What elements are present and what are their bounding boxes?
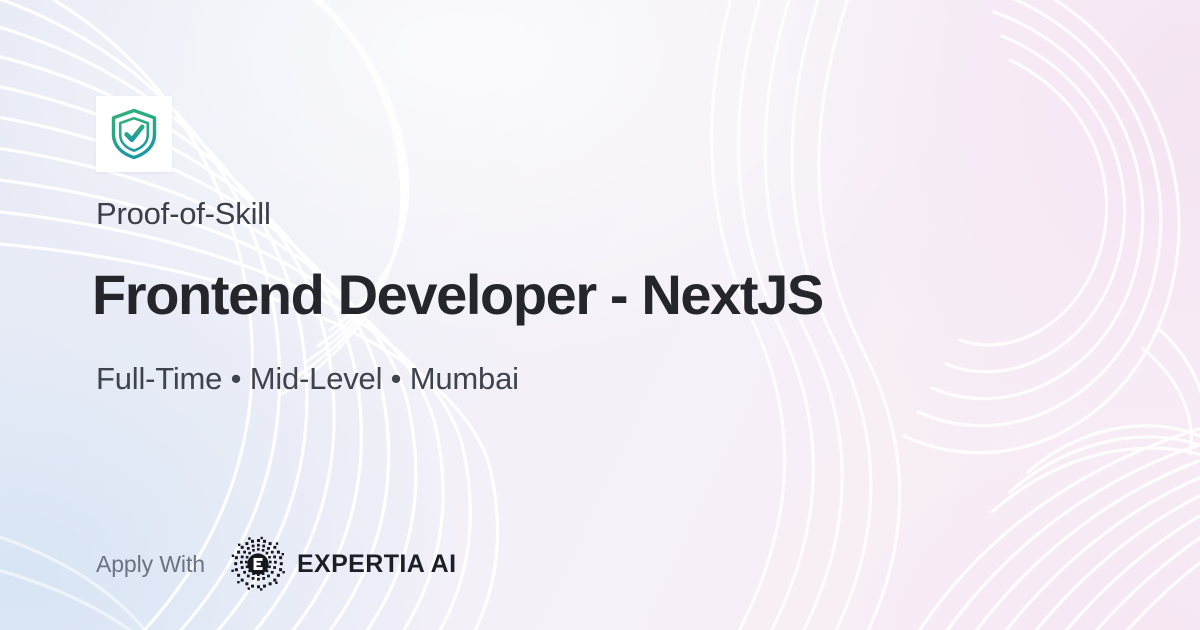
job-title: Frontend Developer - NextJS	[92, 262, 823, 327]
apply-with-label: Apply With	[96, 551, 205, 578]
card-content: Proof-of-Skill Frontend Developer - Next…	[96, 0, 1116, 630]
apply-footer: Apply With	[96, 540, 456, 588]
job-meta-line: Full-Time • Mid-Level • Mumbai	[96, 361, 519, 397]
expertia-dotted-e-icon	[229, 535, 287, 593]
job-share-card: Proof-of-Skill Frontend Developer - Next…	[0, 0, 1200, 630]
logo-tile	[96, 96, 172, 172]
brand-name-label: EXPERTIA AI	[297, 550, 457, 579]
shield-check-icon	[109, 108, 159, 160]
eyebrow-label: Proof-of-Skill	[96, 196, 271, 232]
